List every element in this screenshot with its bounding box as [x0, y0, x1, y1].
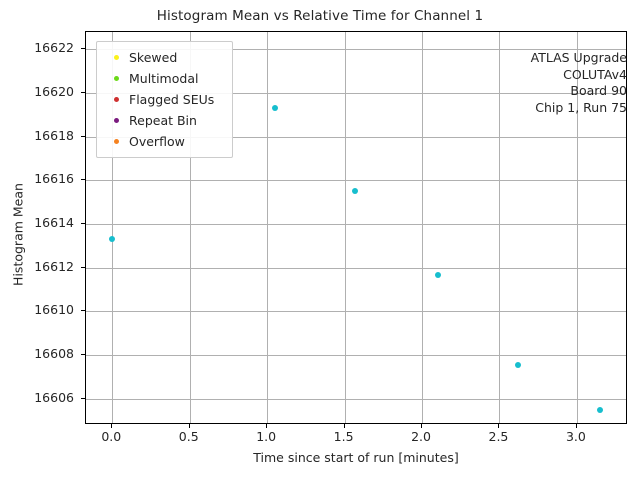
gridline-horizontal: [86, 311, 626, 312]
y-tick-mark: [81, 354, 85, 355]
x-tick-label: 3.0: [546, 429, 606, 444]
gridline-vertical: [345, 32, 346, 423]
legend-marker-icon: [103, 76, 129, 81]
legend-marker-icon: [103, 139, 129, 144]
legend-item-label: Skewed: [129, 50, 177, 65]
x-tick-mark: [421, 424, 422, 428]
annotation-line: Board 90: [531, 83, 627, 100]
gridline-vertical: [267, 32, 268, 423]
legend-swatch: [114, 76, 119, 81]
gridline-vertical: [499, 32, 500, 423]
chart-canvas: Histogram Mean vs Relative Time for Chan…: [0, 0, 640, 480]
legend-item-label: Flagged SEUs: [129, 92, 214, 107]
y-axis-label: Histogram Mean: [11, 155, 26, 315]
y-tick-mark: [81, 92, 85, 93]
x-tick-mark: [576, 424, 577, 428]
legend-marker-icon: [103, 97, 129, 102]
x-tick-label: 0.0: [81, 429, 141, 444]
chart-title: Histogram Mean vs Relative Time for Chan…: [0, 8, 640, 24]
y-tick-label: 16620: [0, 84, 74, 99]
scatter-point: [597, 407, 603, 413]
legend-swatch: [114, 97, 119, 102]
annotation-line: ATLAS Upgrade: [531, 50, 627, 67]
y-tick-mark: [81, 136, 85, 137]
x-axis-label: Time since start of run [minutes]: [85, 450, 627, 465]
x-tick-mark: [266, 424, 267, 428]
legend-item-label: Multimodal: [129, 71, 198, 86]
gridline-horizontal: [86, 399, 626, 400]
x-tick-mark: [498, 424, 499, 428]
legend[interactable]: SkewedMultimodalFlagged SEUsRepeat BinOv…: [96, 41, 233, 158]
scatter-point: [515, 362, 521, 368]
legend-item[interactable]: Multimodal: [103, 68, 226, 89]
legend-item[interactable]: Repeat Bin: [103, 110, 226, 131]
legend-marker-icon: [103, 118, 129, 123]
y-tick-mark: [81, 267, 85, 268]
x-tick-label: 1.5: [314, 429, 374, 444]
plot-annotation: ATLAS UpgradeCOLUTAv4Board 90Chip 1, Run…: [531, 50, 627, 116]
y-tick-label: 16618: [0, 128, 74, 143]
y-tick-label: 16622: [0, 40, 74, 55]
x-tick-label: 1.0: [236, 429, 296, 444]
gridline-horizontal: [86, 224, 626, 225]
gridline-horizontal: [86, 180, 626, 181]
gridline-horizontal: [86, 268, 626, 269]
legend-item[interactable]: Skewed: [103, 47, 226, 68]
x-tick-label: 2.0: [391, 429, 451, 444]
x-tick-mark: [111, 424, 112, 428]
x-tick-label: 2.5: [468, 429, 528, 444]
legend-swatch: [114, 55, 119, 60]
legend-swatch: [114, 118, 119, 123]
y-tick-mark: [81, 179, 85, 180]
legend-item[interactable]: Overflow: [103, 131, 226, 152]
legend-item[interactable]: Flagged SEUs: [103, 89, 226, 110]
legend-item-label: Overflow: [129, 134, 185, 149]
scatter-point: [272, 105, 278, 111]
gridline-vertical: [422, 32, 423, 423]
annotation-line: COLUTAv4: [531, 67, 627, 84]
scatter-point: [435, 272, 441, 278]
x-tick-mark: [344, 424, 345, 428]
y-tick-mark: [81, 48, 85, 49]
scatter-point: [109, 236, 115, 242]
x-tick-mark: [189, 424, 190, 428]
annotation-line: Chip 1, Run 75: [531, 100, 627, 117]
y-tick-label: 16608: [0, 346, 74, 361]
y-tick-mark: [81, 398, 85, 399]
legend-item-label: Repeat Bin: [129, 113, 197, 128]
y-tick-label: 16606: [0, 390, 74, 405]
legend-marker-icon: [103, 55, 129, 60]
scatter-point: [352, 188, 358, 194]
gridline-horizontal: [86, 355, 626, 356]
legend-swatch: [114, 139, 119, 144]
y-tick-mark: [81, 310, 85, 311]
y-tick-mark: [81, 223, 85, 224]
x-tick-label: 0.5: [159, 429, 219, 444]
